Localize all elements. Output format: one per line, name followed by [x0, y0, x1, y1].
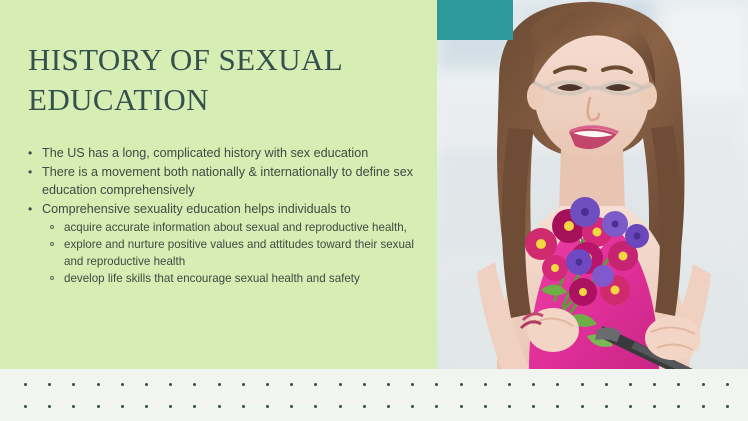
bullet-item: There is a movement both nationally & in…: [24, 163, 424, 199]
decorative-dot: [726, 383, 729, 386]
decorative-dot: [314, 383, 317, 386]
decorative-dot: [24, 383, 27, 386]
sub-bullet-item: explore and nurture positive values and …: [42, 236, 424, 270]
sub-bullet-item: develop life skills that encourage sexua…: [42, 270, 424, 287]
decorative-dot: [48, 405, 51, 408]
decorative-dot: [242, 383, 245, 386]
decorative-dot: [653, 405, 656, 408]
decorative-dot: [629, 383, 632, 386]
bullet-list: The US has a long, complicated history w…: [24, 144, 424, 287]
decorative-dot: [97, 383, 100, 386]
decorative-dot: [677, 383, 680, 386]
decorative-dot: [653, 383, 656, 386]
decorative-dot: [387, 405, 390, 408]
sub-bullet-item: acquire accurate information about sexua…: [42, 219, 424, 236]
decorative-dot: [411, 405, 414, 408]
decorative-dot: [363, 405, 366, 408]
decorative-dot: [532, 383, 535, 386]
decorative-dot: [145, 405, 148, 408]
decorative-dot: [290, 405, 293, 408]
decorative-dot: [121, 383, 124, 386]
decorative-dot: [72, 383, 75, 386]
decorative-dot: [460, 383, 463, 386]
decorative-dot: [169, 383, 172, 386]
decorative-dot: [193, 383, 196, 386]
decorative-dot: [484, 405, 487, 408]
decorative-dot: [435, 405, 438, 408]
dot-grid-band: [0, 369, 748, 421]
decorative-dot: [339, 405, 342, 408]
decorative-dot: [339, 383, 342, 386]
decorative-dot: [605, 383, 608, 386]
decorative-dot: [508, 405, 511, 408]
content-panel: HISTORY OF SEXUAL EDUCATION The US has a…: [0, 0, 437, 369]
decorative-dot: [532, 405, 535, 408]
decorative-dot: [218, 405, 221, 408]
decorative-dot: [363, 383, 366, 386]
presentation-slide: HISTORY OF SEXUAL EDUCATION The US has a…: [0, 0, 748, 421]
decorative-dot: [411, 383, 414, 386]
decorative-dot: [702, 383, 705, 386]
decorative-dot: [290, 383, 293, 386]
decorative-dot: [218, 383, 221, 386]
slide-title-line-2: EDUCATION: [28, 80, 418, 120]
decorative-dot: [484, 383, 487, 386]
decorative-dot: [677, 405, 680, 408]
decorative-dot: [121, 405, 124, 408]
decorative-dot: [605, 405, 608, 408]
sub-bullet-list: acquire accurate information about sexua…: [24, 219, 424, 287]
bullet-item: The US has a long, complicated history w…: [24, 144, 424, 162]
decorative-dot: [702, 405, 705, 408]
slide-title: HISTORY OF SEXUAL EDUCATION: [28, 40, 418, 120]
decorative-dot: [193, 405, 196, 408]
decorative-dot: [314, 405, 317, 408]
decorative-dot: [629, 405, 632, 408]
decorative-dot: [556, 383, 559, 386]
decorative-dot: [460, 405, 463, 408]
decorative-dot: [242, 405, 245, 408]
dot-row-bottom: [0, 405, 748, 409]
decorative-dot: [556, 405, 559, 408]
decorative-dot: [581, 405, 584, 408]
decorative-dot: [435, 383, 438, 386]
decorative-dot: [726, 405, 729, 408]
decorative-dot: [72, 405, 75, 408]
decorative-dot: [508, 383, 511, 386]
photo-woman-with-flowers: [437, 0, 748, 369]
decorative-dot: [266, 405, 269, 408]
bullet-item: Comprehensive sexuality education helps …: [24, 200, 424, 218]
decorative-dot: [145, 383, 148, 386]
teal-accent-rectangle: [437, 0, 513, 40]
decorative-dot: [581, 383, 584, 386]
decorative-dot: [387, 383, 390, 386]
decorative-dot: [266, 383, 269, 386]
decorative-dot: [24, 405, 27, 408]
slide-title-line-1: HISTORY OF SEXUAL: [28, 40, 418, 80]
dot-row-top: [0, 383, 748, 387]
decorative-dot: [169, 405, 172, 408]
decorative-dot: [48, 383, 51, 386]
decorative-dot: [97, 405, 100, 408]
